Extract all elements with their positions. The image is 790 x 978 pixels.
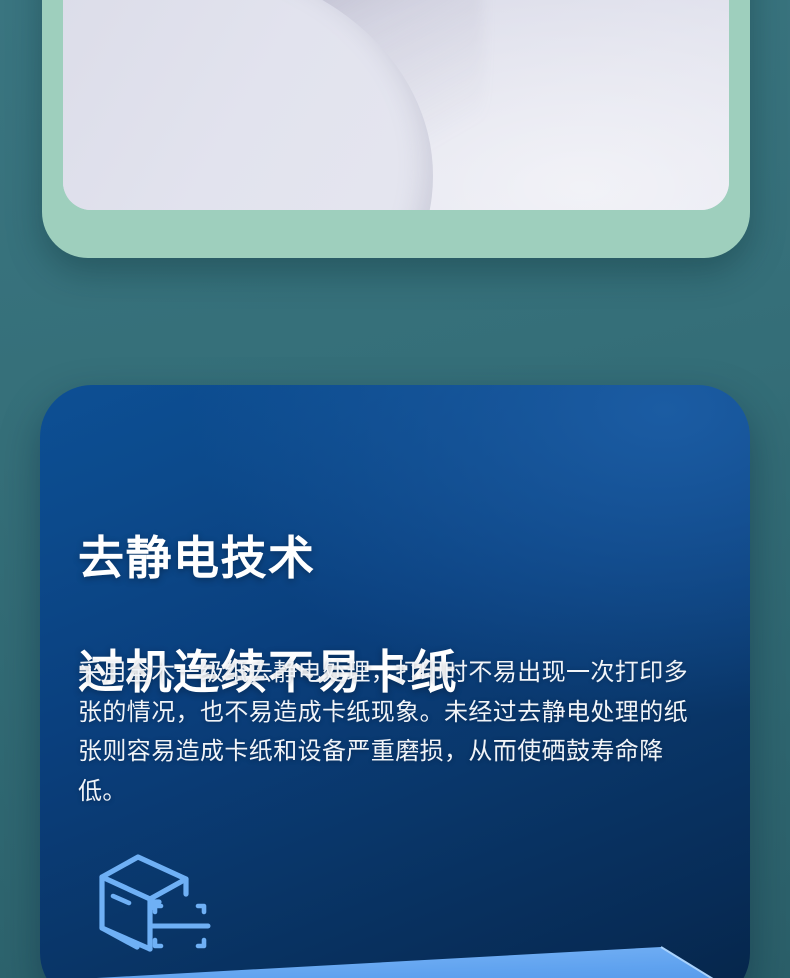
antistatic-feature-card: 去静电技术 过机连续不易卡纸 采用全木一级纸去静电处理，打印时不易出现一次打印多… [40, 385, 750, 978]
box-scan-icon [93, 850, 213, 954]
headline-line-1: 去静电技术 [78, 530, 458, 587]
paper-photo-card [42, 0, 750, 258]
stacked-copy-paper-closeup-image [63, 0, 729, 210]
promo-page-root: 去静电技术 过机连续不易卡纸 采用全木一级纸去静电处理，打印时不易出现一次打印多… [0, 0, 790, 978]
paper-photo-frame [63, 0, 729, 210]
feature-description: 采用全木一级纸去静电处理，打印时不易出现一次打印多张的情况，也不易造成卡纸现象。… [78, 653, 706, 811]
